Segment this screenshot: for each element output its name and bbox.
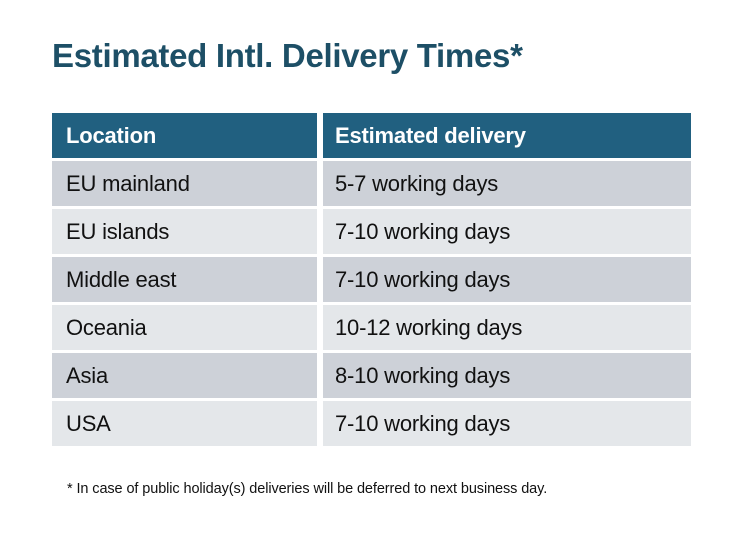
column-header-location: Location [52,113,317,158]
cell-estimated-delivery: 10-12 working days [323,305,691,350]
page-title: Estimated Intl. Delivery Times* [52,36,523,76]
column-header-estimated-delivery: Estimated delivery [323,113,691,158]
cell-location: Oceania [52,305,317,350]
cell-estimated-delivery: 5-7 working days [323,161,691,206]
cell-location: EU mainland [52,161,317,206]
cell-estimated-delivery-text: 10-12 working days [335,315,522,341]
cell-location: EU islands [52,209,317,254]
table-row: USA 7-10 working days [52,401,691,446]
cell-location: USA [52,401,317,446]
column-header-estimated-delivery-label: Estimated delivery [335,123,526,149]
table-row: Middle east 7-10 working days [52,257,691,302]
cell-location-text: EU islands [66,219,169,245]
cell-estimated-delivery-text: 7-10 working days [335,219,510,245]
table-row: EU islands 7-10 working days [52,209,691,254]
cell-location-text: EU mainland [66,171,190,197]
cell-location-text: Asia [66,363,108,389]
table-row: Oceania 10-12 working days [52,305,691,350]
cell-location: Middle east [52,257,317,302]
cell-estimated-delivery: 7-10 working days [323,257,691,302]
cell-location: Asia [52,353,317,398]
cell-location-text: Middle east [66,267,176,293]
cell-estimated-delivery: 7-10 working days [323,209,691,254]
cell-estimated-delivery-text: 5-7 working days [335,171,498,197]
column-header-location-label: Location [66,123,156,149]
table-row: Asia 8-10 working days [52,353,691,398]
cell-estimated-delivery-text: 8-10 working days [335,363,510,389]
cell-estimated-delivery-text: 7-10 working days [335,411,510,437]
cell-location-text: Oceania [66,315,147,341]
delivery-times-page: Estimated Intl. Delivery Times* Location… [0,0,745,536]
cell-estimated-delivery: 8-10 working days [323,353,691,398]
cell-location-text: USA [66,411,111,437]
table-header-row: Location Estimated delivery [52,113,691,158]
footnote: * In case of public holiday(s) deliverie… [67,481,547,497]
table-row: EU mainland 5-7 working days [52,161,691,206]
cell-estimated-delivery: 7-10 working days [323,401,691,446]
cell-estimated-delivery-text: 7-10 working days [335,267,510,293]
delivery-times-table: Location Estimated delivery EU mainland … [52,113,691,449]
